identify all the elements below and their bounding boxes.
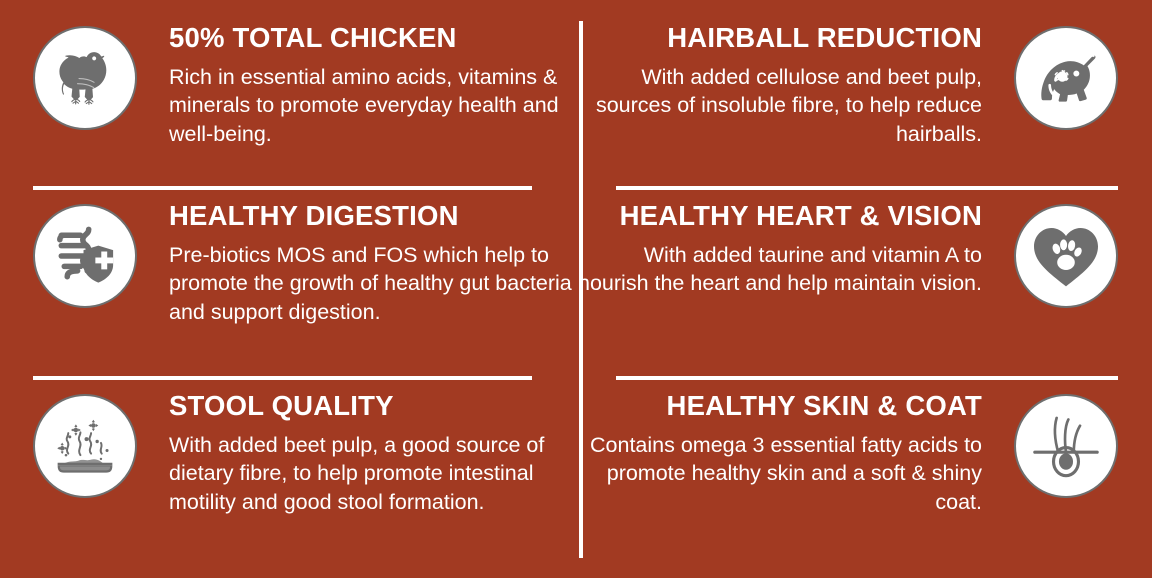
benefit-headline: HAIRBALL REDUCTION xyxy=(576,24,982,52)
benefit-text-skin-coat: HEALTHY SKIN & COAT Contains omega 3 ess… xyxy=(576,390,982,516)
left-column: 50% TOTAL CHICKEN Rich in essential amin… xyxy=(0,0,576,578)
benefit-headline: HEALTHY HEART & VISION xyxy=(576,202,982,230)
benefit-item-healthy-digestion: HEALTHY DIGESTION Pre-biotics MOS and FO… xyxy=(0,200,576,368)
section-divider xyxy=(33,376,532,380)
intestines-shield-icon xyxy=(33,204,137,308)
cat-grooming-icon xyxy=(1014,26,1118,130)
benefit-item-total-chicken: 50% TOTAL CHICKEN Rich in essential amin… xyxy=(0,22,576,182)
right-column: HAIRBALL REDUCTION With added cellulose … xyxy=(576,0,1152,578)
hair-follicle-icon xyxy=(1014,394,1118,498)
benefit-headline: 50% TOTAL CHICKEN xyxy=(169,24,576,52)
benefit-headline: HEALTHY DIGESTION xyxy=(169,202,576,230)
benefit-headline: STOOL QUALITY xyxy=(169,392,576,420)
benefit-item-stool-quality: STOOL QUALITY With added beet pulp, a go… xyxy=(0,390,576,560)
section-divider xyxy=(616,376,1118,380)
benefit-item-heart-vision: HEALTHY HEART & VISION With added taurin… xyxy=(576,200,1152,368)
benefit-body: With added beet pulp, a good source of d… xyxy=(169,431,576,517)
litter-tray-icon xyxy=(33,394,137,498)
benefit-body: Rich in essential amino acids, vitamins … xyxy=(169,63,576,149)
section-divider xyxy=(33,186,532,190)
benefit-text-total-chicken: 50% TOTAL CHICKEN Rich in essential amin… xyxy=(169,22,576,148)
benefit-item-hairball-reduction: HAIRBALL REDUCTION With added cellulose … xyxy=(576,22,1152,182)
benefit-text-hairball-reduction: HAIRBALL REDUCTION With added cellulose … xyxy=(576,22,982,148)
benefit-headline: HEALTHY SKIN & COAT xyxy=(576,392,982,420)
benefit-body: Pre-biotics MOS and FOS which help to pr… xyxy=(169,241,576,327)
benefit-body: With added cellulose and beet pulp, sour… xyxy=(576,63,982,149)
benefit-body: With added taurine and vitamin A to nour… xyxy=(576,241,982,298)
benefit-item-skin-coat: HEALTHY SKIN & COAT Contains omega 3 ess… xyxy=(576,390,1152,560)
benefit-text-healthy-digestion: HEALTHY DIGESTION Pre-biotics MOS and FO… xyxy=(169,200,576,326)
benefit-text-heart-vision: HEALTHY HEART & VISION With added taurin… xyxy=(576,200,982,298)
heart-paw-icon xyxy=(1014,204,1118,308)
section-divider xyxy=(616,186,1118,190)
benefit-body: Contains omega 3 essential fatty acids t… xyxy=(576,431,982,517)
benefits-infographic: 50% TOTAL CHICKEN Rich in essential amin… xyxy=(0,0,1152,578)
chicken-icon xyxy=(33,26,137,130)
benefit-text-stool-quality: STOOL QUALITY With added beet pulp, a go… xyxy=(169,390,576,516)
